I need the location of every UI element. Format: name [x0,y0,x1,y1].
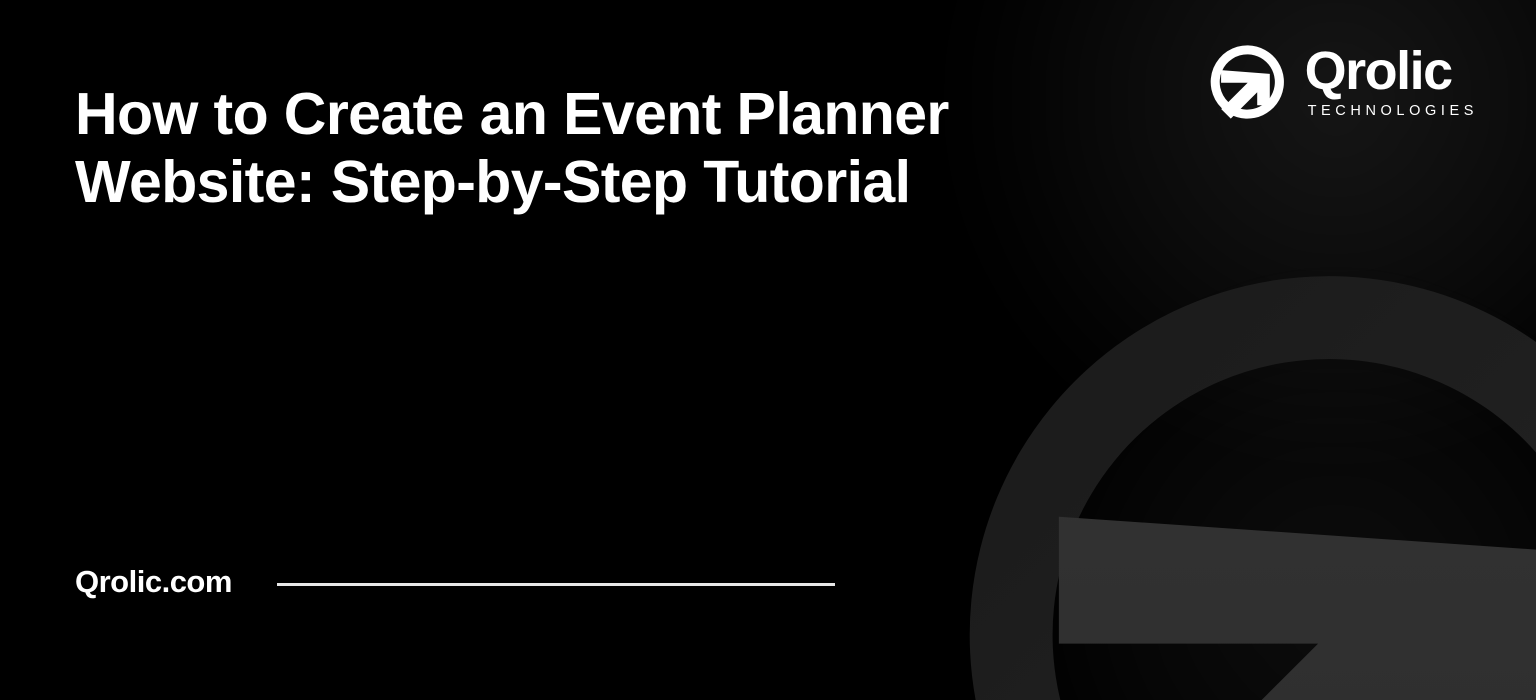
qrolic-q-arrow-watermark-icon [935,245,1536,700]
qrolic-q-arrow-logo-icon [1209,43,1287,121]
footer-bar: Qrolic.com [75,564,835,600]
site-name: Qrolic.com [75,564,232,600]
brand-name: Qrolic [1305,45,1452,97]
brand-tagline: TECHNOLOGIES [1308,102,1478,120]
page-title: How to Create an Event Planner Website: … [75,80,1135,216]
blog-banner: How to Create an Event Planner Website: … [0,0,1536,700]
bottom-right-glow [1016,280,1536,700]
brand-text: Qrolic TECHNOLOGIES [1305,45,1478,120]
brand-lockup[interactable]: Qrolic TECHNOLOGIES [1209,43,1478,121]
footer-divider [277,583,835,586]
